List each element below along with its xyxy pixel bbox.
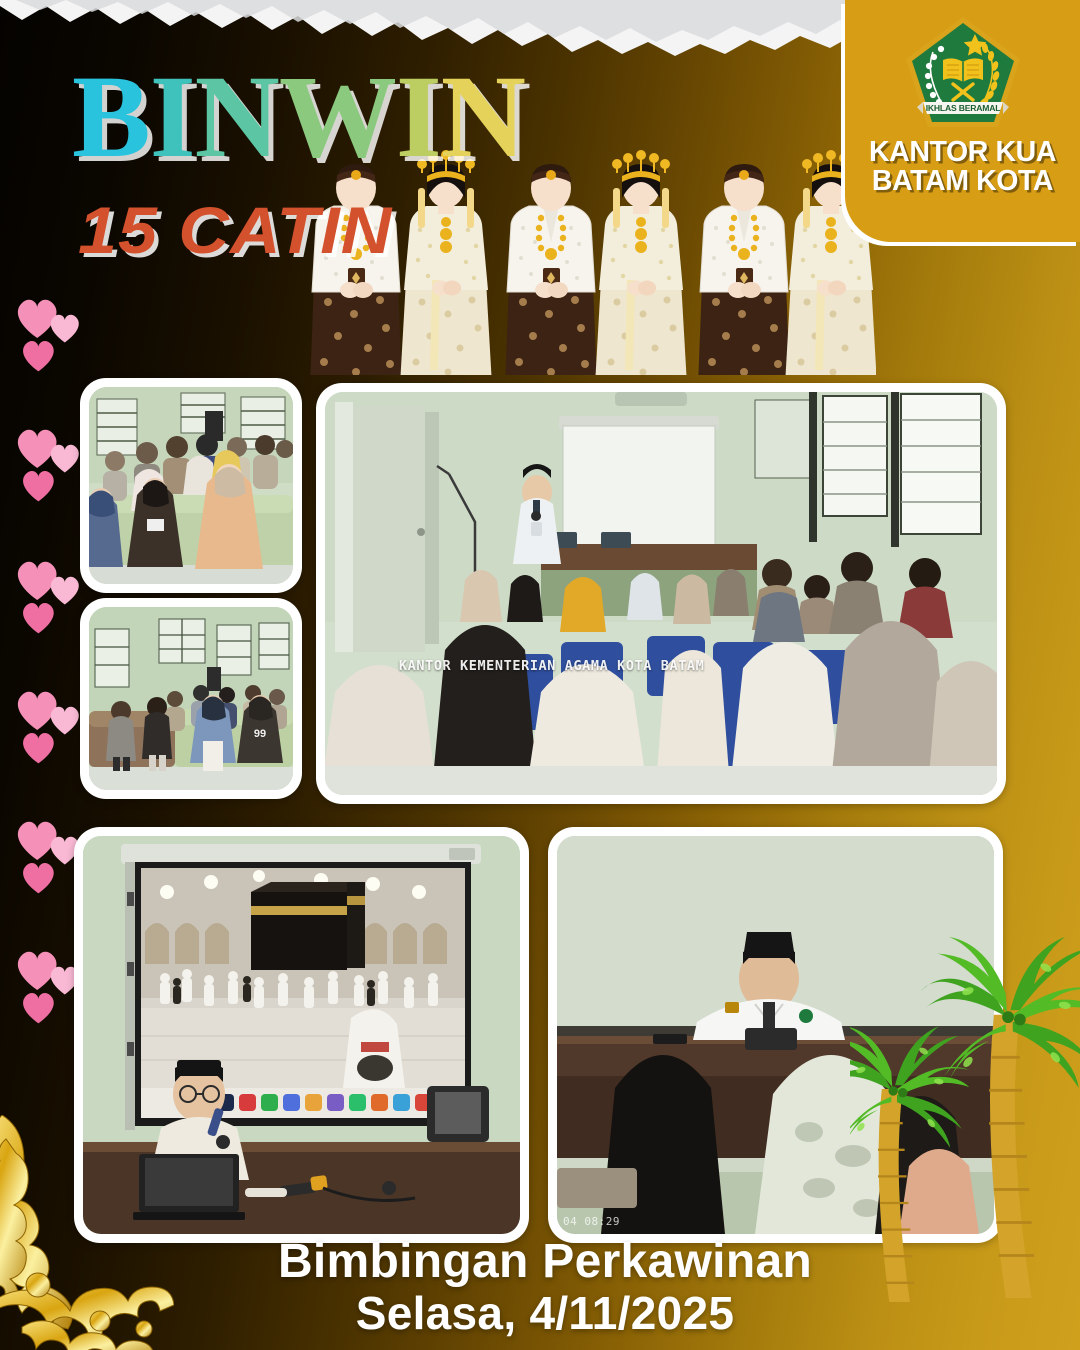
svg-text:99: 99 — [254, 728, 266, 740]
svg-text:IKHLAS BERAMAL: IKHLAS BERAMAL — [925, 103, 1000, 113]
title-letter-1: I — [150, 58, 195, 176]
poster-canvas: BINWIN 15 CATIN — [0, 0, 1080, 1350]
title-letter-3: W — [279, 58, 396, 176]
title-letter-0: B — [72, 58, 150, 176]
photo-mid-left: 99 — [80, 598, 302, 799]
photo-main: KANTOR KEMENTERIAN AGAMA KOTA BATAM — [316, 383, 1006, 804]
title-letter-4: I — [396, 58, 441, 176]
photo-top-left — [80, 378, 302, 593]
photo-timestamp: 04 08:29 — [563, 1215, 620, 1228]
brand-line-1: KANTOR KUA — [869, 138, 1056, 167]
subtitle-catin: 15 CATIN — [78, 192, 392, 268]
title-letter-5: N — [441, 58, 525, 176]
brand-panel: IKHLAS BERAMAL KANTOR KUA BATAM KOTA — [845, 0, 1080, 242]
event-name: Bimbingan Perkawinan — [10, 1235, 1080, 1289]
page-title: BINWIN — [72, 58, 525, 176]
kementerian-agama-logo: IKHLAS BERAMAL — [903, 14, 1023, 132]
photo-watermark: KANTOR KEMENTERIAN AGAMA KOTA BATAM — [399, 658, 704, 674]
brand-line-2: BATAM KOTA — [869, 167, 1056, 196]
footer-caption: Bimbingan Perkawinan Selasa, 4/11/2025 — [0, 1235, 1080, 1340]
event-date: Selasa, 4/11/2025 — [10, 1288, 1080, 1340]
title-letter-2: N — [195, 58, 279, 176]
